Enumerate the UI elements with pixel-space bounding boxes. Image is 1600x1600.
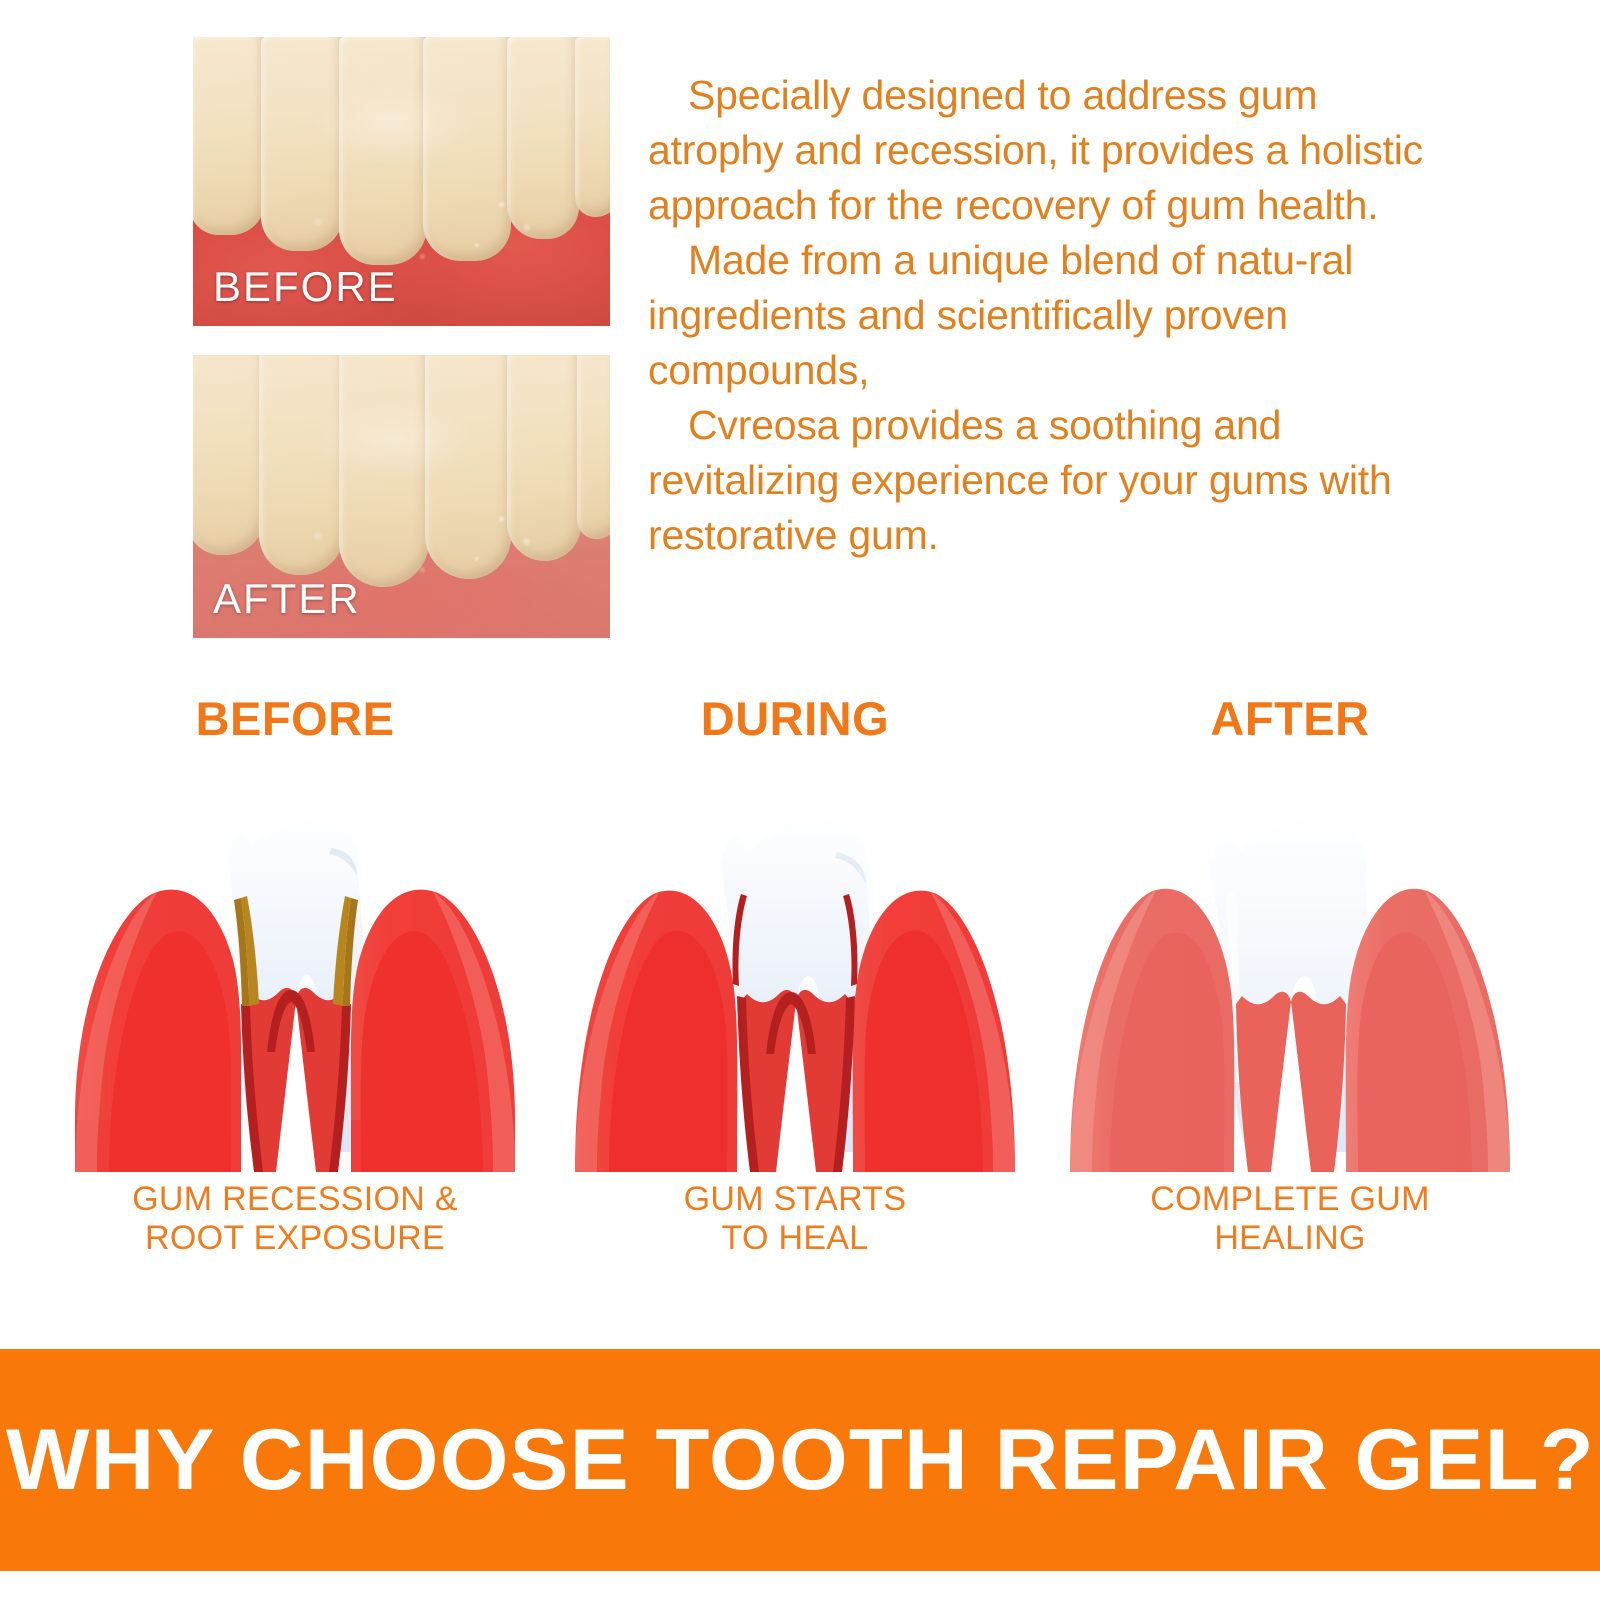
description-paragraph-1: Specially designed to address gum atroph…	[648, 68, 1458, 233]
stage-during-caption: GUM STARTS TO HEAL	[535, 1180, 1055, 1258]
clinical-photo-before: BEFORE	[193, 37, 610, 326]
clinical-photo-after: AFTER	[193, 355, 610, 638]
stage-during: DURING	[535, 690, 1055, 1258]
why-choose-banner: WHY CHOOSE TOOTH REPAIR GEL?	[0, 1349, 1600, 1571]
tooth-diagram-before	[35, 752, 555, 1172]
intro-section: BEFORE AFTER Specially designed to addre…	[0, 0, 1600, 680]
photo-before-label: BEFORE	[213, 266, 398, 308]
tooth-diagram-during	[535, 752, 1055, 1172]
description-paragraph-3: Cvreosa provides a soothing and revitali…	[648, 398, 1458, 563]
stage-after-caption: COMPLETE GUM HEALING	[1030, 1180, 1550, 1258]
treatment-stages-section: BEFORE	[0, 690, 1600, 1290]
stage-during-title: DURING	[535, 690, 1055, 748]
stage-after: AFTER	[1030, 690, 1550, 1258]
stage-before-caption: GUM RECESSION & ROOT EXPOSURE	[35, 1180, 555, 1258]
banner-headline: WHY CHOOSE TOOTH REPAIR GEL?	[6, 1411, 1595, 1510]
stage-before: BEFORE	[35, 690, 555, 1258]
tooth-diagram-after	[1030, 752, 1550, 1172]
stage-before-title: BEFORE	[35, 690, 555, 748]
photo-after-label: AFTER	[213, 578, 361, 620]
description-paragraph-2: Made from a unique blend of natu-ral ing…	[648, 233, 1458, 398]
stage-after-title: AFTER	[1030, 690, 1550, 748]
product-description: Specially designed to address gum atroph…	[648, 68, 1458, 563]
